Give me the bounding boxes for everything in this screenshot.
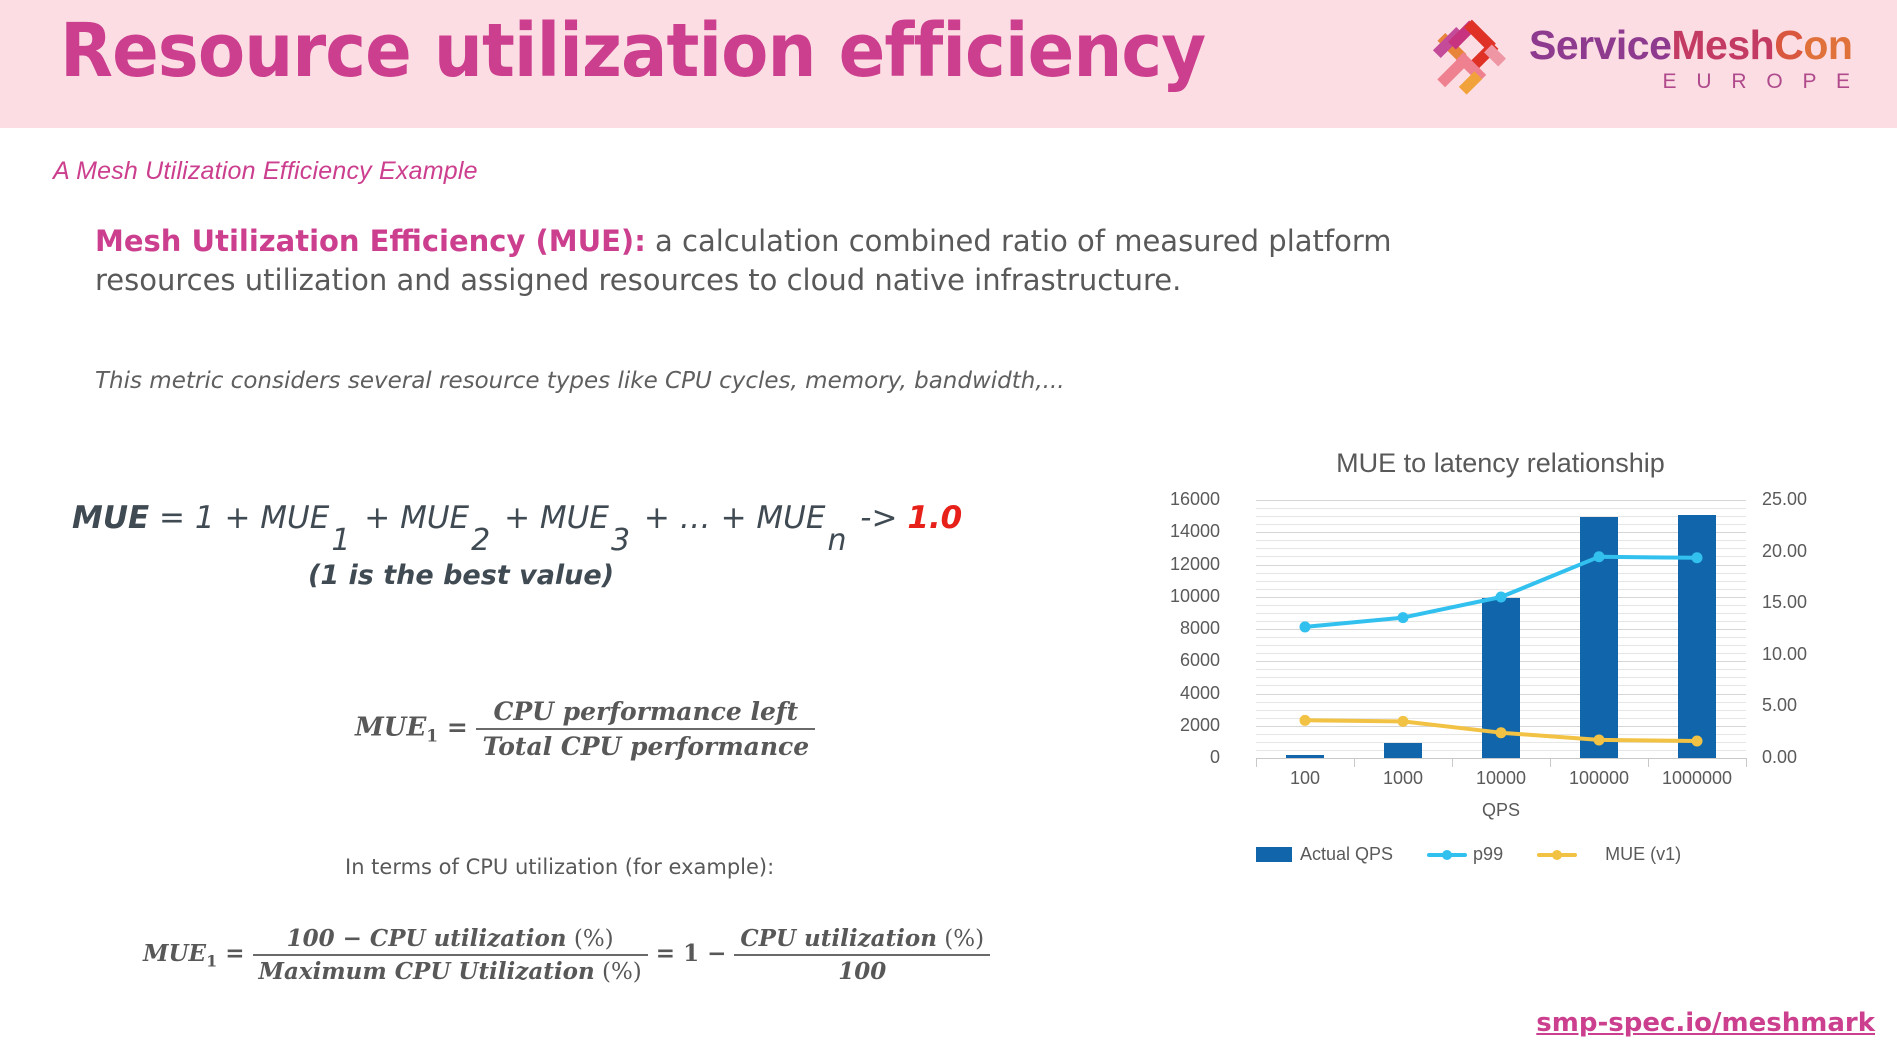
chart-x-category-label: 100000	[1544, 768, 1654, 789]
chart-y2-axis-label: 5.00	[1762, 695, 1854, 716]
chart-data-point	[1398, 612, 1409, 623]
chart-data-point	[1496, 727, 1507, 738]
best-value-caption: (1 is the best value)	[308, 560, 614, 591]
definition-paragraph: Mesh Utilization Efficiency (MUE): a cal…	[95, 222, 1395, 299]
formula2-fraction-1: 100 − CPU utilization (%)Maximum CPU Uti…	[253, 925, 648, 985]
chart-data-point	[1300, 621, 1311, 632]
chart-x-tick	[1256, 758, 1257, 767]
chart-y2-axis-label: 0.00	[1762, 747, 1854, 768]
chart-y-axis-label: 2000	[1128, 715, 1220, 736]
formula2-equals-2: = 1 −	[648, 940, 735, 967]
chart-x-tick	[1354, 758, 1355, 767]
chart-x-tick	[1746, 758, 1747, 767]
logo-wordmark: ServiceMeshCon	[1529, 22, 1852, 69]
chart-data-point	[1692, 552, 1703, 563]
formula2-numerator-1: 100 − CPU utilization (%)	[253, 925, 648, 954]
chart-legend-item[interactable]: p99	[1427, 844, 1503, 865]
chart-line-layer	[1256, 500, 1746, 758]
formula1-denominator: Total CPU performance	[476, 728, 815, 761]
chart-y-axis-label: 10000	[1128, 586, 1220, 607]
chart-data-point	[1496, 592, 1507, 603]
mue-sub-n: n	[827, 523, 846, 558]
logo-word-seg-4: on	[1803, 22, 1852, 68]
formula2-num1-text: 100 − CPU utilization	[287, 925, 567, 952]
legend-marker	[1442, 850, 1452, 860]
formula2-numerator-2: CPU utilization (%)	[734, 925, 990, 954]
formula1-numerator: CPU performance left	[476, 697, 815, 728]
formula2-lhs-subscript: 1	[206, 952, 217, 971]
mue-lead: MUE	[72, 500, 149, 536]
logo-word-seg-1: Service	[1529, 22, 1671, 68]
chart-plot-area	[1256, 500, 1746, 758]
chart-x-category-label: 100	[1250, 768, 1360, 789]
legend-line-swatch	[1537, 848, 1577, 862]
logo-word-seg-2: Mesh	[1671, 22, 1774, 68]
mue-target-value: 1.0	[907, 500, 962, 536]
chart-x-category-label: 1000000	[1642, 768, 1752, 789]
formula2-equals-1: =	[217, 940, 252, 967]
page-title: Resource utilization efficiency	[60, 8, 1205, 94]
chart-x-category-label: 1000	[1348, 768, 1458, 789]
legend-label: p99	[1473, 844, 1503, 865]
legend-label: Actual QPS	[1300, 844, 1393, 865]
legend-label: MUE (v1)	[1605, 844, 1681, 865]
legend-bar-swatch	[1256, 847, 1292, 862]
chart-legend-item[interactable]: Actual QPS	[1256, 844, 1393, 865]
formula2-num2-text: CPU utilization	[740, 925, 937, 952]
spec-link[interactable]: smp-spec.io/meshmark	[1536, 1008, 1875, 1038]
chart-y2-axis-label: 20.00	[1762, 541, 1854, 562]
logo-subtitle: E U R O P E	[1663, 70, 1857, 94]
chart-data-point	[1398, 716, 1409, 727]
chart-y-axis-label: 12000	[1128, 554, 1220, 575]
chart-x-tick	[1550, 758, 1551, 767]
logo-word-seg-3: C	[1774, 22, 1803, 68]
formula-mue1-definition: MUE1 = CPU performance leftTotal CPU per…	[355, 697, 815, 761]
formula1-fraction: CPU performance leftTotal CPU performanc…	[476, 697, 815, 761]
chart-x-tick	[1452, 758, 1453, 767]
mue-sub-1: 1	[331, 523, 350, 558]
formula2-denominator-1: Maximum CPU Utilization (%)	[253, 954, 648, 985]
servicemeshcon-diamond-mark	[1433, 16, 1523, 104]
mue-latency-chart: MUE to latency relationship QPS Actual Q…	[1128, 448, 1873, 958]
chart-title: MUE to latency relationship	[1128, 448, 1873, 479]
formula2-den1-percent: (%)	[595, 959, 642, 985]
formula2-denominator-2: 100	[734, 954, 990, 985]
chart-legend-item[interactable]: MUE (v1)	[1537, 844, 1681, 865]
formula1-lhs-subscript: 1	[426, 727, 438, 747]
chart-y2-axis-label: 15.00	[1762, 592, 1854, 613]
legend-line-swatch	[1427, 848, 1467, 862]
formula2-num1-percent: (%)	[567, 926, 614, 952]
chart-legend: Actual QPSp99MUE (v1)	[1256, 844, 1816, 865]
chart-y-axis-label: 0	[1128, 747, 1220, 768]
servicemeshcon-logo: ServiceMeshCon E U R O P E	[1433, 10, 1863, 110]
chart-y-axis-label: 14000	[1128, 521, 1220, 542]
chart-x-tick	[1648, 758, 1649, 767]
formula1-lhs: MUE	[355, 713, 426, 743]
chart-data-point	[1300, 715, 1311, 726]
mue-t2: + MUE	[354, 500, 469, 536]
chart-y-axis-label: 8000	[1128, 618, 1220, 639]
formula2-lhs: MUE	[143, 940, 206, 967]
chart-x-axis-title: QPS	[1256, 800, 1746, 821]
mue-arrow: ->	[850, 500, 907, 536]
chart-y2-axis-label: 25.00	[1762, 489, 1854, 510]
mue-t4: + … + MUE	[634, 500, 825, 536]
chart-y2-axis-label: 10.00	[1762, 644, 1854, 665]
formula2-den1-text: Maximum CPU Utilization	[259, 958, 595, 985]
legend-marker	[1552, 850, 1562, 860]
definition-term: Mesh Utilization Efficiency (MUE):	[95, 224, 646, 258]
chart-data-point	[1594, 551, 1605, 562]
formula1-equals: =	[438, 713, 476, 742]
formula-mue1-cpu: MUE1 = 100 − CPU utilization (%)Maximum …	[143, 925, 990, 985]
chart-x-axis-line	[1256, 758, 1746, 759]
cpu-utilization-note: In terms of CPU utilization (for example…	[345, 855, 774, 879]
chart-x-category-label: 10000	[1446, 768, 1556, 789]
mue-sub-2: 2	[471, 523, 490, 558]
chart-y-axis-label: 16000	[1128, 489, 1220, 510]
metric-note: This metric considers several resource t…	[95, 368, 1295, 394]
mue-sub-3: 3	[611, 523, 630, 558]
section-kicker: A Mesh Utilization Efficiency Example	[53, 157, 478, 186]
mue-series-formula: MUE = 1 + MUE1 + MUE2 + MUE3 + … + MUEn …	[72, 500, 962, 536]
mue-rest: = 1 + MUE	[149, 500, 329, 536]
chart-data-point	[1594, 734, 1605, 745]
chart-y-axis-label: 6000	[1128, 650, 1220, 671]
chart-data-point	[1692, 735, 1703, 746]
formula2-num2-percent: (%)	[937, 926, 984, 952]
formula2-fraction-2: CPU utilization (%)100	[734, 925, 990, 985]
mue-t3: + MUE	[494, 500, 609, 536]
chart-y-axis-label: 4000	[1128, 683, 1220, 704]
